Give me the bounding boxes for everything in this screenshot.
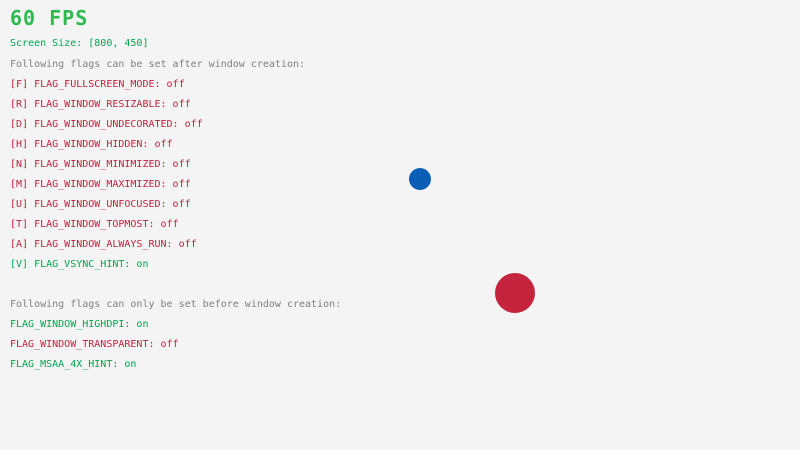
flag-line-flag-window-unfocused[interactable]: [U] FLAG_WINDOW_UNFOCUSED: off: [10, 199, 191, 211]
fps-counter: 60 FPS: [10, 7, 88, 29]
flag-line-flag-window-hidden[interactable]: [H] FLAG_WINDOW_HIDDEN: off: [10, 139, 173, 151]
red-ball-shape: [495, 273, 535, 313]
flag-line-flag-window-always-run[interactable]: [A] FLAG_WINDOW_ALWAYS_RUN: off: [10, 239, 197, 251]
flag-line-flag-fullscreen-mode[interactable]: [F] FLAG_FULLSCREEN_MODE: off: [10, 79, 185, 91]
screen-size-label: Screen Size: [800, 450]: [10, 38, 148, 50]
hud-overlay: 60 FPS Screen Size: [800, 450] Following…: [0, 0, 800, 450]
flag-line-flag-window-highdpi[interactable]: FLAG_WINDOW_HIGHDPI: on: [10, 319, 148, 331]
heading-flags-after-creation: Following flags can be set after window …: [10, 59, 305, 71]
flag-line-flag-window-resizable[interactable]: [R] FLAG_WINDOW_RESIZABLE: off: [10, 99, 191, 111]
blue-ball-shape: [409, 168, 431, 190]
flag-line-flag-window-minimized[interactable]: [N] FLAG_WINDOW_MINIMIZED: off: [10, 159, 191, 171]
flag-line-flag-window-transparent[interactable]: FLAG_WINDOW_TRANSPARENT: off: [10, 339, 179, 351]
application-canvas[interactable]: 60 FPS Screen Size: [800, 450] Following…: [0, 0, 800, 450]
flag-line-flag-msaa-4x-hint[interactable]: FLAG_MSAA_4X_HINT: on: [10, 359, 136, 371]
flag-line-flag-vsync-hint[interactable]: [V] FLAG_VSYNC_HINT: on: [10, 259, 148, 271]
flag-line-flag-window-topmost[interactable]: [T] FLAG_WINDOW_TOPMOST: off: [10, 219, 179, 231]
flag-line-flag-window-undecorated[interactable]: [D] FLAG_WINDOW_UNDECORATED: off: [10, 119, 203, 131]
flag-line-flag-window-maximized[interactable]: [M] FLAG_WINDOW_MAXIMIZED: off: [10, 179, 191, 191]
heading-flags-before-creation: Following flags can only be set before w…: [10, 299, 341, 311]
